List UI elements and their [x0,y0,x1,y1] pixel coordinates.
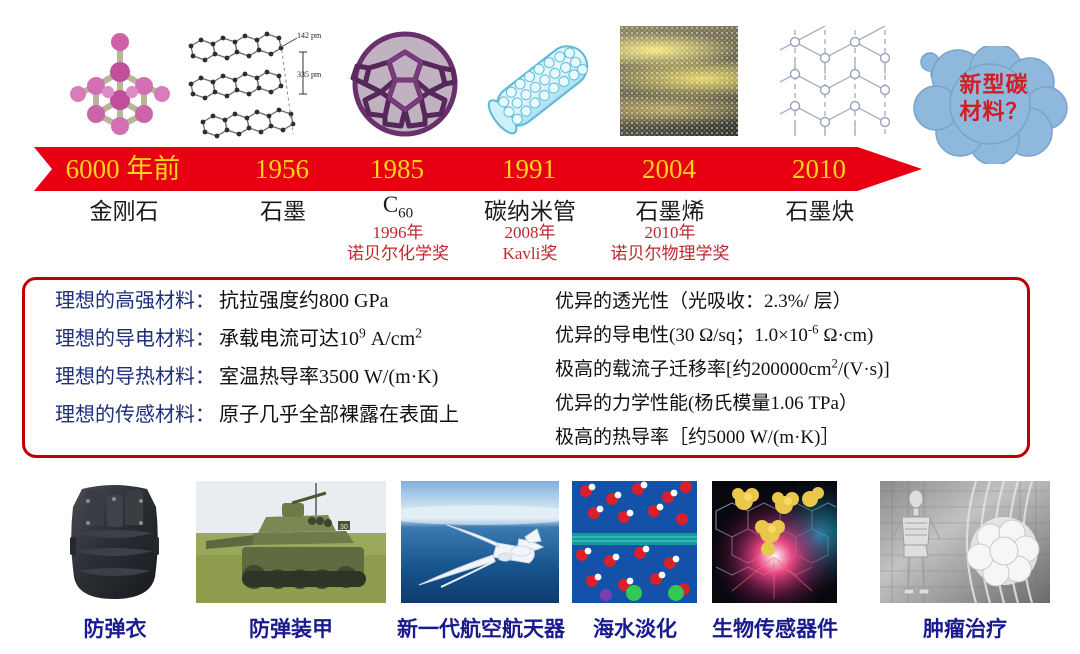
material-name-nanotube: 碳纳米管 [460,192,600,226]
fullerene-c60-structure-icon [345,30,465,138]
material-name-diamond: 金刚石 [35,192,213,226]
property-row-conductivity: 理想的导电材料： 承载电流可达109 A/cm2 [55,322,545,360]
material-name-graphene: 石墨烯 [600,192,740,226]
property-right-transparency: 优异的透光性（光吸收：2.3%/ 层） [555,286,1025,320]
svg-text:30: 30 [340,524,348,531]
body-armor-vest-image [52,481,177,603]
app-label-aerospace: 新一代航空航天器 [383,613,579,643]
property-right-conductivity: 优异的导电性(30 Ω/sq；1.0×10-6 Ω·cm) [555,320,1025,354]
seawater-desalination-image [572,481,697,603]
property-row-sensing: 理想的传感材料： 原子几乎全部裸露在表面上 [55,398,545,436]
app-label-biosensor: 生物传感器件 [700,613,850,643]
material-name-c60: C60 [328,192,468,223]
property-label-thermal: 理想的导热材料： [55,360,215,389]
timeline-years: 6000 年前 1956 1985 1991 2004 2010 [34,147,922,191]
graphene-sheet-image [620,26,738,136]
award-note-nanotube: 2008年 Kavli奖 [460,222,600,264]
property-row-thermal: 理想的导热材料： 室温热导率3500 W/(m·K) [55,360,545,398]
cloud-line-1: 新型碳 [930,72,1058,99]
properties-left-column: 理想的高强材料： 抗拉强度约800 GPa 理想的导电材料： 承载电流可达109… [55,284,545,436]
aerospace-plane-image [401,481,559,603]
property-label-strength: 理想的高强材料： [55,284,215,313]
timeline-year-4: 2004 [599,147,739,191]
property-value-sensing: 原子几乎全部裸露在表面上 [219,398,459,427]
timeline-year-3: 1991 [459,147,599,191]
armored-tank-image: 30 [196,481,386,603]
material-name-c60-subscript: 60 [398,206,413,222]
property-right-mechanical: 优异的力学性能(杨氏模量1.06 TPa） [555,388,1025,422]
app-label-tumor: 肿瘤治疗 [890,613,1040,643]
property-right-thermal: 极高的热导率［约5000 W/(m·K)］ [555,422,1025,456]
material-name-c60-base: C [383,192,398,217]
graphene-mesh-overlay-2 [620,26,738,136]
cloud-line-2: 材料？ [930,99,1058,126]
biosensor-device-image [712,481,837,603]
property-value-thermal: 室温热导率3500 W/(m·K) [219,360,438,389]
material-name-graphyne: 石墨炔 [750,192,890,226]
graphite-interlayer-label: 335 pm [297,70,322,79]
app-label-tank: 防弹装甲 [196,613,386,643]
timeline-year-2: 1985 [327,147,467,191]
property-value-strength: 抗拉强度约800 GPa [219,284,388,313]
property-row-strength: 理想的高强材料： 抗拉强度约800 GPa [55,284,545,322]
graphyne-lattice-structure-icon [775,26,895,138]
timeline-year-5: 2010 [749,147,889,191]
property-label-sensing: 理想的传感材料： [55,398,215,427]
slide-canvas: 142 pm 335 pm [0,0,1080,654]
app-label-desalination: 海水淡化 [570,613,700,643]
award-note-graphene: 2010年 诺贝尔物理学奖 [595,222,745,264]
award-note-c60: 1996年 诺贝尔化学奖 [328,222,468,264]
graphite-bond-label: 142 pm [297,31,322,40]
diamond-structure-icon [60,22,180,142]
speech-cloud-text: 新型碳 材料？ [930,72,1058,126]
property-label-conductivity: 理想的导电材料： [55,322,215,351]
graphite-structure-icon: 142 pm 335 pm [185,22,335,144]
properties-right-column: 优异的透光性（光吸收：2.3%/ 层） 优异的导电性(30 Ω/sq；1.0×1… [555,286,1025,456]
properties-box: 理想的高强材料： 抗拉强度约800 GPa 理想的导电材料： 承载电流可达109… [22,277,1030,458]
property-value-conductivity: 承载电流可达109 A/cm2 [219,322,422,351]
property-right-mobility: 极高的载流子迁移率[约200000cm2/(V·s)] [555,354,1025,388]
timeline-year-0: 6000 年前 [34,147,212,191]
app-label-body-armor: 防弹衣 [40,613,190,643]
carbon-nanotube-structure-icon [480,35,605,137]
tumor-therapy-image [880,481,1050,603]
